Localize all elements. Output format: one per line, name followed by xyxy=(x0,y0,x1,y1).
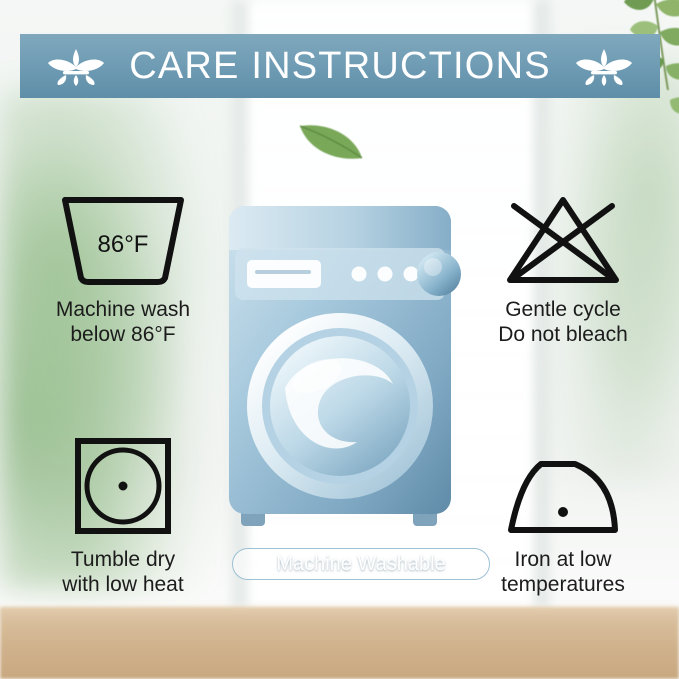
wash-tub-icon-wrap: 86°F xyxy=(8,190,238,286)
care-caption-tumble-dry: Tumble dry with low heat xyxy=(8,548,238,598)
wash-tub-icon: 86°F xyxy=(59,194,187,286)
page-title: CARE INSTRUCTIONS xyxy=(129,45,551,88)
header-banner: CARE INSTRUCTIONS xyxy=(20,34,660,98)
washing-machine-illustration xyxy=(215,192,465,542)
wash-tub-temperature-label: 86°F xyxy=(98,231,149,258)
do-not-bleach-triangle-icon-wrap xyxy=(448,190,678,286)
fleur-de-lis-ornament-icon xyxy=(574,45,634,87)
tumble-dry-low-icon xyxy=(73,436,173,536)
machine-washable-badge: Machine Washable xyxy=(232,548,490,580)
care-caption-gentle-cycle: Gentle cycle Do not bleach xyxy=(448,298,678,348)
care-caption-machine-wash: Machine wash below 86°F xyxy=(8,298,238,348)
machine-washable-badge-label: Machine Washable xyxy=(276,553,445,576)
care-symbol-tumble-dry: Tumble dry with low heat xyxy=(8,440,238,598)
do-not-bleach-triangle-icon xyxy=(502,194,624,286)
care-symbol-machine-wash: 86°F Machine wash below 86°F xyxy=(8,190,238,348)
fleur-de-lis-ornament-icon xyxy=(46,45,106,87)
iron-low-temperature-icon xyxy=(501,454,625,536)
iron-low-temperature-icon-wrap xyxy=(448,440,678,536)
tumble-dry-low-icon-wrap xyxy=(8,440,238,536)
care-symbol-gentle-cycle: Gentle cycle Do not bleach xyxy=(448,190,678,348)
